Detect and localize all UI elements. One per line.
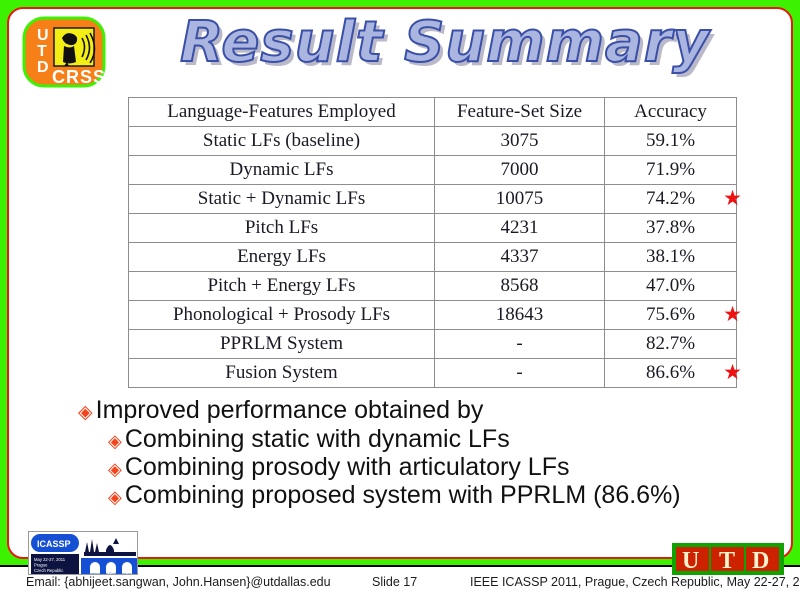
- cell-feature: Phonological + Prosody LFs: [129, 301, 435, 330]
- cell-accuracy: 59.1%: [605, 127, 737, 156]
- highlight-star-icon: ★: [723, 188, 742, 209]
- diamond-bullet-icon: ◈: [108, 460, 122, 478]
- accuracy-value: 75.6%: [646, 304, 695, 325]
- accuracy-value: 38.1%: [646, 246, 695, 267]
- cell-accuracy: 38.1%: [605, 243, 737, 272]
- icassp-wordmark: ICASSP: [37, 539, 71, 549]
- table-row: Fusion System-86.6%★: [129, 359, 737, 388]
- cell-size: 7000: [435, 156, 605, 185]
- cell-feature: Pitch + Energy LFs: [129, 272, 435, 301]
- crss-logo: U T D CRSS: [22, 16, 106, 88]
- cell-feature: Static LFs (baseline): [129, 127, 435, 156]
- cell-feature: Fusion System: [129, 359, 435, 388]
- cell-accuracy: 37.8%: [605, 214, 737, 243]
- accuracy-value: 37.8%: [646, 217, 695, 238]
- cell-accuracy: 86.6%★: [605, 359, 737, 388]
- icassp-dates: May 22-27, 2011: [34, 557, 66, 562]
- table-row: PPRLM System-82.7%: [129, 330, 737, 359]
- cell-size: 10075: [435, 185, 605, 214]
- cell-accuracy: 47.0%: [605, 272, 737, 301]
- list-item: ◈Combining proposed system with PPRLM (8…: [108, 483, 728, 508]
- results-table-container: Language-Features Employed Feature-Set S…: [128, 97, 736, 388]
- table-row: Dynamic LFs700071.9%: [129, 156, 737, 185]
- utd-letter-u: U: [682, 548, 699, 574]
- bullet-list: ◈Improved performance obtained by◈Combin…: [78, 398, 728, 511]
- table-header-row: Language-Features Employed Feature-Set S…: [129, 98, 737, 127]
- cell-accuracy: 74.2%★: [605, 185, 737, 214]
- cell-size: 8568: [435, 272, 605, 301]
- cell-feature: Dynamic LFs: [129, 156, 435, 185]
- cell-feature: Pitch LFs: [129, 214, 435, 243]
- list-item: ◈Combining static with dynamic LFs: [108, 427, 728, 452]
- column-header-feature: Language-Features Employed: [129, 98, 435, 127]
- utd-letter-d: D: [752, 548, 769, 574]
- accuracy-value: 47.0%: [646, 275, 695, 296]
- utd-letter-t: T: [719, 548, 735, 574]
- accuracy-value: 59.1%: [646, 130, 695, 151]
- table-row: Pitch + Energy LFs856847.0%: [129, 272, 737, 301]
- accuracy-value: 82.7%: [646, 333, 695, 354]
- crss-letter-t: T: [37, 43, 47, 60]
- slide-footer: Email: {abhijeet.sangwan, John.Hansen}@u…: [0, 572, 800, 596]
- footer-slide-number: Slide 17: [372, 575, 417, 589]
- diamond-bullet-icon: ◈: [108, 432, 122, 450]
- results-table: Language-Features Employed Feature-Set S…: [128, 97, 737, 388]
- cell-feature: PPRLM System: [129, 330, 435, 359]
- icassp-logo: ICASSP May 22-27, 2011 Prague Czech Repu…: [28, 531, 138, 575]
- list-item-label: Combining prosody with articulatory LFs: [125, 455, 728, 480]
- cell-size: 4337: [435, 243, 605, 272]
- list-item-label: Combining proposed system with PPRLM (86…: [125, 483, 728, 508]
- cell-size: -: [435, 359, 605, 388]
- footer-email: Email: {abhijeet.sangwan, John.Hansen}@u…: [26, 575, 331, 589]
- diamond-bullet-icon: ◈: [78, 403, 93, 422]
- accuracy-value: 71.9%: [646, 159, 695, 180]
- highlight-star-icon: ★: [723, 304, 742, 325]
- cell-accuracy: 75.6%★: [605, 301, 737, 330]
- slide-canvas: U T D CRSS Result Summary: [0, 0, 800, 598]
- highlight-star-icon: ★: [723, 362, 742, 383]
- table-row: Pitch LFs423137.8%: [129, 214, 737, 243]
- column-header-accuracy: Accuracy: [605, 98, 737, 127]
- footer-conference: IEEE ICASSP 2011, Prague, Czech Republic…: [470, 575, 800, 589]
- list-item-label: Combining static with dynamic LFs: [125, 427, 728, 452]
- accuracy-value: 74.2%: [646, 188, 695, 209]
- cell-size: 4231: [435, 214, 605, 243]
- accuracy-value: 86.6%: [646, 362, 695, 383]
- cell-feature: Static + Dynamic LFs: [129, 185, 435, 214]
- results-table-body: Static LFs (baseline)307559.1%Dynamic LF…: [129, 127, 737, 388]
- list-item: ◈Combining prosody with articulatory LFs: [108, 455, 728, 480]
- list-item-label: Improved performance obtained by: [96, 398, 728, 423]
- cell-size: 3075: [435, 127, 605, 156]
- icassp-city: Prague: [34, 563, 48, 568]
- table-row: Static LFs (baseline)307559.1%: [129, 127, 737, 156]
- cell-accuracy: 71.9%: [605, 156, 737, 185]
- table-row: Energy LFs433738.1%: [129, 243, 737, 272]
- crss-letter-u: U: [37, 27, 49, 44]
- crss-letter-d: D: [37, 59, 49, 76]
- cell-accuracy: 82.7%: [605, 330, 737, 359]
- list-item: ◈Improved performance obtained by: [78, 398, 728, 423]
- crss-wordmark: CRSS: [52, 67, 106, 87]
- table-row: Phonological + Prosody LFs1864375.6%★: [129, 301, 737, 330]
- diamond-bullet-icon: ◈: [108, 488, 122, 506]
- cell-feature: Energy LFs: [129, 243, 435, 272]
- cell-size: 18643: [435, 301, 605, 330]
- cell-size: -: [435, 330, 605, 359]
- table-row: Static + Dynamic LFs1007574.2%★: [129, 185, 737, 214]
- column-header-size: Feature-Set Size: [435, 98, 605, 127]
